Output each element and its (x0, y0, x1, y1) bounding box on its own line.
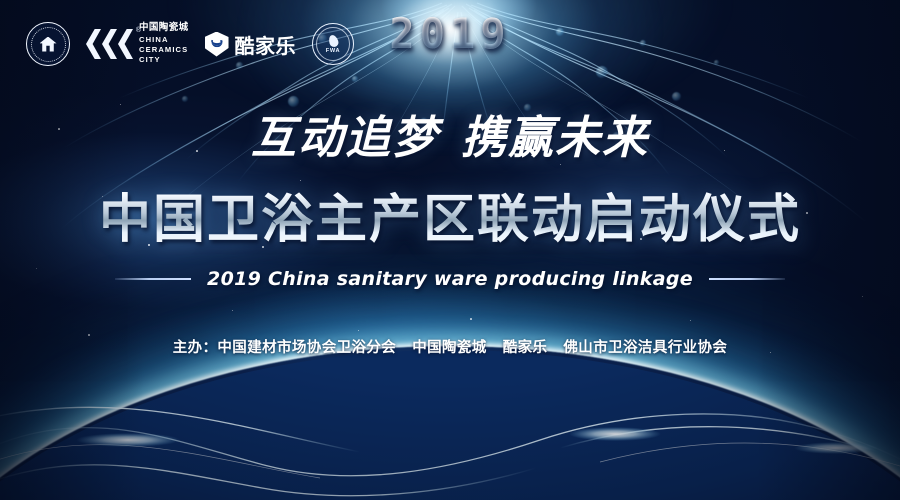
organizers-prefix: 主办： (173, 340, 218, 356)
china-ceramics-city-wordmark: 中国陶瓷城 CHINA CERAMICS CITY (139, 23, 189, 66)
subtitle-text: 2019 China sanitary ware producing linka… (207, 268, 693, 290)
circular-seal-droplet-icon: FWA (312, 23, 354, 65)
organizer-0: 中国建材市场协会卫浴分会 (217, 340, 396, 356)
subtitle-rule-left (115, 278, 191, 280)
logo-china-building-material-market-association (26, 22, 70, 66)
organizers-line: 主办：中国建材市场协会卫浴分会中国陶瓷城酷家乐佛山市卫浴洁具行业协会 (0, 336, 900, 357)
headline-part-2: 携赢未来 (461, 111, 649, 164)
registered-mark-icon: ® (136, 27, 141, 34)
kujiale-wordmark: 酷家乐 (235, 30, 297, 59)
organizer-3: 佛山市卫浴洁具行业协会 (563, 340, 727, 356)
year-badge: 2019 (389, 9, 510, 58)
subtitle-rule-right (709, 278, 785, 280)
ccc-english-line2: CERAMICS (139, 45, 189, 55)
organizer-2: 酷家乐 (503, 340, 548, 356)
logo-china-ceramics-city: ® 中国陶瓷城 CHINA CERAMICS CITY (86, 23, 189, 66)
logo-row: ® 中国陶瓷城 CHINA CERAMICS CITY 酷家乐 (26, 22, 354, 66)
poster-content: ® 中国陶瓷城 CHINA CERAMICS CITY 酷家乐 (0, 0, 900, 500)
logo-kujiale: 酷家乐 (205, 30, 297, 59)
fwa-label: FWA (326, 48, 341, 54)
event-poster: ® 中国陶瓷城 CHINA CERAMICS CITY 酷家乐 (0, 0, 900, 500)
page-title: 中国卫浴主产区联动启动仪式 (0, 177, 900, 252)
ccc-chinese-name: 中国陶瓷城 (139, 23, 189, 33)
smile-eyes-glyph (211, 40, 223, 42)
ccc-english-line3: CITY (139, 55, 189, 65)
logo-foshan-water-association: FWA (312, 23, 354, 65)
house-glyph (40, 37, 57, 52)
ccc-english-line1: CHINA (139, 35, 189, 45)
triple-chevron-icon: ® (86, 29, 133, 59)
headline-slogan: 互动追梦携赢未来 (0, 101, 900, 166)
droplet-glyph (327, 33, 339, 47)
subtitle-row: 2019 China sanitary ware producing linka… (0, 268, 900, 290)
headline-part-1: 互动追梦 (251, 111, 439, 164)
circular-seal-house-icon (26, 22, 70, 66)
organizer-1: 中国陶瓷城 (412, 340, 487, 356)
shield-smile-icon (205, 32, 229, 57)
